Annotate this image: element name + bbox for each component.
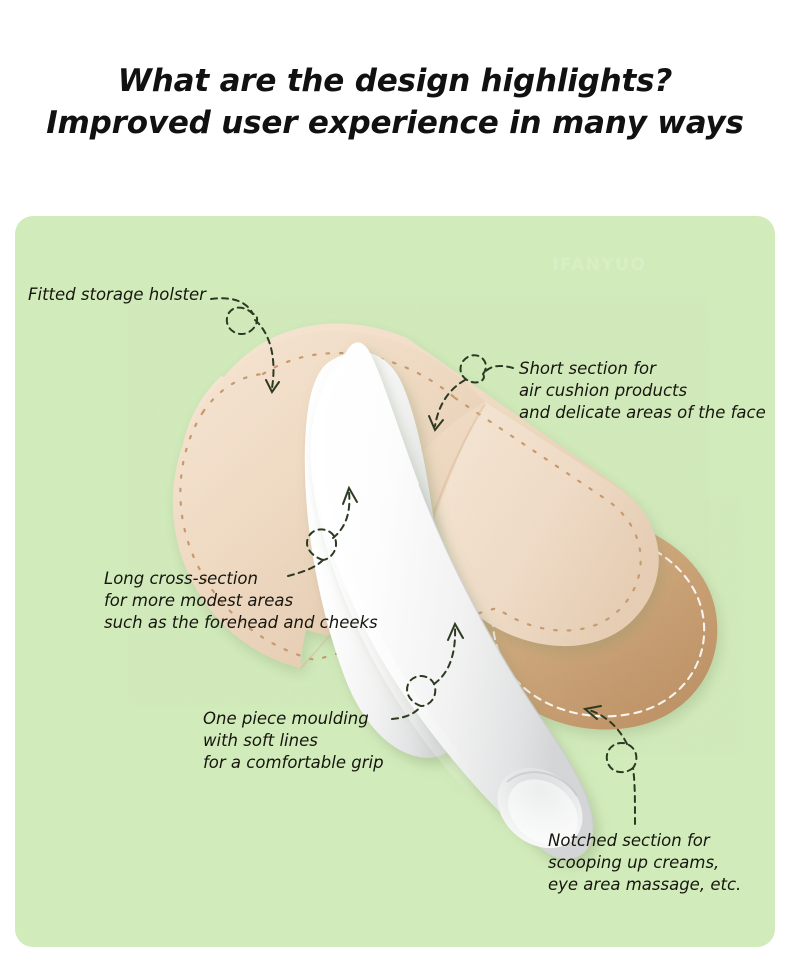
annotation-line: Long cross-section (104, 568, 378, 590)
page-title: What are the design highlights? Improved… (0, 60, 790, 144)
annotation-short-section: Short section for air cushion products a… (519, 358, 766, 424)
annotation-line: with soft lines (203, 730, 384, 752)
annotation-line: air cushion products (519, 380, 766, 402)
arrow-long-cross-section (288, 488, 357, 576)
annotation-line: Notched section for (548, 830, 741, 852)
annotation-line: scooping up creams, (548, 852, 741, 874)
annotation-one-piece-moulding: One piece moulding with soft lines for a… (203, 708, 384, 774)
brand-watermark: IFANYUO (552, 255, 646, 275)
annotation-line: Short section for (519, 358, 766, 380)
tan-leather-flap (479, 516, 717, 730)
arrow-fitted-storage-holster (211, 298, 279, 392)
page-title-line-1: What are the design highlights? (0, 60, 790, 102)
annotation-line: Fitted storage holster (28, 284, 206, 306)
arrow-notched-section (585, 706, 636, 824)
annotation-line: One piece moulding (203, 708, 384, 730)
page-title-line-2: Improved user experience in many ways (0, 102, 790, 144)
annotation-line: for a comfortable grip (203, 752, 384, 774)
annotation-fitted-storage-holster: Fitted storage holster (28, 284, 206, 306)
arrow-short-section (429, 355, 513, 430)
white-gua-sha-tool (305, 352, 464, 758)
annotation-notched-section: Notched section for scooping up creams, … (548, 830, 741, 896)
annotation-line: and delicate areas of the face (519, 402, 766, 424)
annotation-line: eye area massage, etc. (548, 874, 741, 896)
annotation-long-cross-section: Long cross-section for more modest areas… (104, 568, 378, 634)
annotation-line: for more modest areas (104, 590, 378, 612)
annotation-line: such as the forehead and cheeks (104, 612, 378, 634)
arrow-one-piece-moulding (392, 624, 463, 719)
